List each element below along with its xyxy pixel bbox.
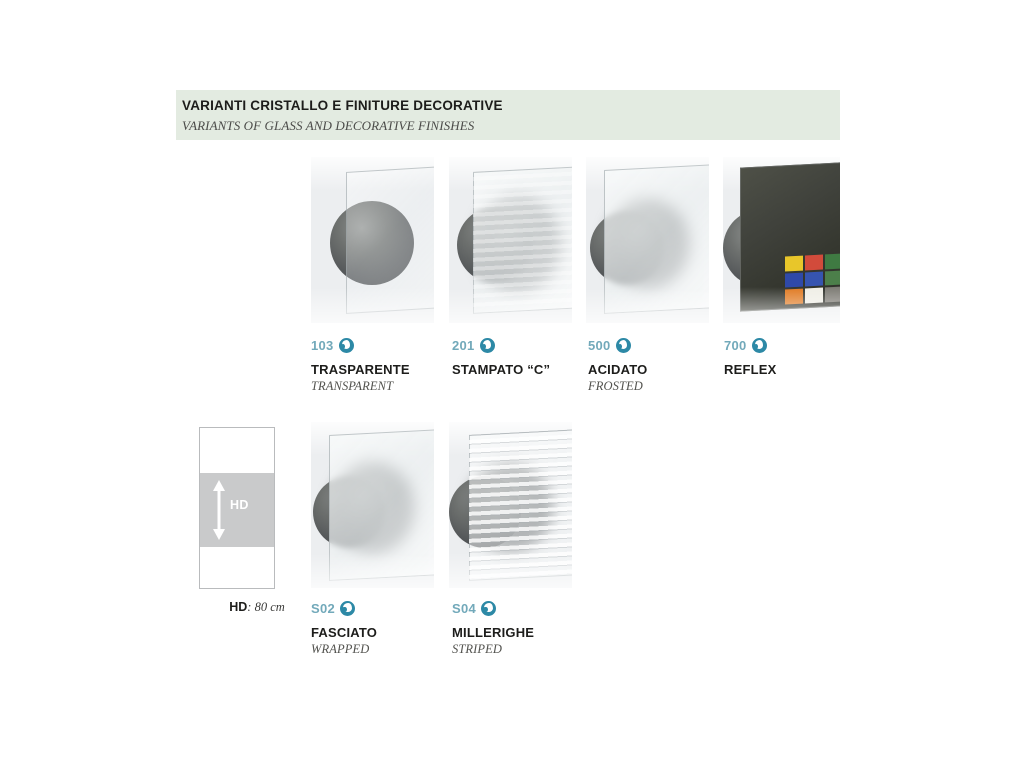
finish-name-it: MILLERIGHE xyxy=(452,625,534,640)
glass-finish-icon xyxy=(481,601,496,616)
finish-caption-S02: S02 FASCIATO WRAPPED xyxy=(311,599,377,657)
backdrop-floor xyxy=(449,287,572,323)
hd-height-diagram: HD xyxy=(199,427,275,589)
hd-caption-value: : 80 cm xyxy=(247,600,285,614)
finish-code-row: 700 xyxy=(724,336,776,354)
backdrop-floor xyxy=(311,552,434,588)
finish-image-700[interactable] xyxy=(723,157,840,323)
finish-name-it: REFLEX xyxy=(724,362,776,377)
finish-name-en: WRAPPED xyxy=(311,642,377,657)
finish-code: 700 xyxy=(724,338,747,353)
backdrop-floor xyxy=(723,287,840,323)
finish-caption-S04: S04 MILLERIGHE STRIPED xyxy=(452,599,534,657)
hd-caption-label: HD xyxy=(229,600,247,614)
sample-scene-reflex xyxy=(723,157,840,323)
backdrop-floor xyxy=(449,552,572,588)
glass-finish-icon xyxy=(480,338,495,353)
finish-image-201[interactable] xyxy=(449,157,572,323)
finish-code-row: 103 xyxy=(311,336,410,354)
hd-caption: HD: 80 cm xyxy=(197,600,317,615)
glass-finish-icon xyxy=(339,338,354,353)
finish-caption-500: 500 ACIDATO FROSTED xyxy=(588,336,647,394)
finish-code: 103 xyxy=(311,338,334,353)
hd-band-label: HD xyxy=(230,498,249,512)
page-subtitle: VARIANTS OF GLASS AND DECORATIVE FINISHE… xyxy=(182,118,474,134)
page-title: VARIANTI CRISTALLO E FINITURE DECORATIVE xyxy=(182,98,503,113)
finish-name-it: TRASPARENTE xyxy=(311,362,410,377)
hd-double-arrow-icon xyxy=(212,480,226,540)
sample-scene-striped xyxy=(449,422,572,588)
finish-code-row: 500 xyxy=(588,336,647,354)
finish-code-row: S02 xyxy=(311,599,377,617)
glass-finish-icon xyxy=(340,601,355,616)
finish-caption-103: 103 TRASPARENTE TRANSPARENT xyxy=(311,336,410,394)
finish-caption-201: 201 STAMPATO “C” xyxy=(452,336,550,379)
finish-image-500[interactable] xyxy=(586,157,709,323)
sample-scene-wrapped xyxy=(311,422,434,588)
finish-code-row: S04 xyxy=(452,599,534,617)
finish-name-it: STAMPATO “C” xyxy=(452,362,550,377)
finish-code: 201 xyxy=(452,338,475,353)
glass-finish-icon xyxy=(616,338,631,353)
sample-scene-transparent xyxy=(311,157,434,323)
finish-name-en: FROSTED xyxy=(588,379,647,394)
finish-caption-700: 700 REFLEX xyxy=(724,336,776,379)
finish-image-S02[interactable] xyxy=(311,422,434,588)
backdrop-floor xyxy=(586,287,709,323)
sample-scene-frosted xyxy=(586,157,709,323)
backdrop-floor xyxy=(311,287,434,323)
finish-image-103[interactable] xyxy=(311,157,434,323)
glass-finish-icon xyxy=(752,338,767,353)
finish-name-en: TRANSPARENT xyxy=(311,379,410,394)
finish-code: S04 xyxy=(452,601,476,616)
finish-code: S02 xyxy=(311,601,335,616)
catalog-page: VARIANTI CRISTALLO E FINITURE DECORATIVE… xyxy=(0,0,1024,768)
finish-name-it: FASCIATO xyxy=(311,625,377,640)
finish-name-it: ACIDATO xyxy=(588,362,647,377)
finish-image-S04[interactable] xyxy=(449,422,572,588)
finish-code: 500 xyxy=(588,338,611,353)
finish-name-en: STRIPED xyxy=(452,642,534,657)
finish-code-row: 201 xyxy=(452,336,550,354)
sample-scene-patterned xyxy=(449,157,572,323)
